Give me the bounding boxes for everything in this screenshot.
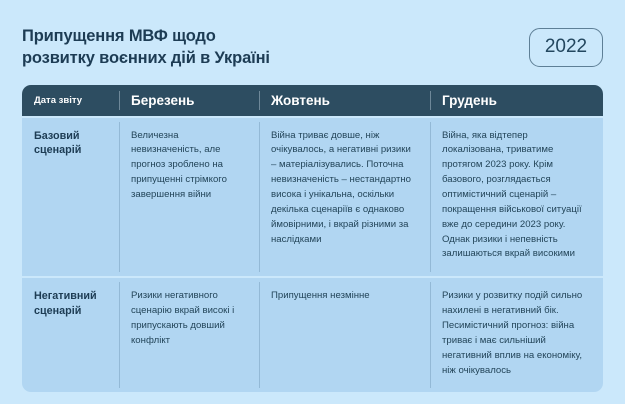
scenario-label: Базовий сценарій [34, 129, 107, 159]
cell-text: Ризики у розвитку подій сильно нахилені … [442, 289, 591, 378]
column-header-date: Дата звіту [22, 85, 119, 116]
row-scenario-negative: Негативний сценарій [22, 278, 119, 392]
header-bar: Припущення МВФ щодо розвитку воєнних дій… [0, 0, 625, 70]
cell-negative-october: Припущення незмінне [259, 278, 430, 392]
cell-text: Припущення незмінне [271, 289, 418, 304]
infographic-root: Припущення МВФ щодо розвитку воєнних дій… [0, 0, 625, 404]
column-header-december-label: Грудень [442, 93, 497, 108]
scenario-label: Негативний сценарій [34, 289, 107, 319]
cell-text: Величезна невизначеність, але прогноз зр… [131, 129, 247, 203]
table-header-row: Дата звіту Березень Жовтень Грудень [22, 85, 603, 116]
year-badge: 2022 [529, 28, 603, 67]
column-header-october-label: Жовтень [271, 93, 330, 108]
column-header-december: Грудень [430, 85, 603, 116]
table-row: Негативний сценарій Ризики негативного с… [22, 278, 603, 392]
comparison-table: Дата звіту Березень Жовтень Грудень Базо… [22, 85, 603, 393]
cell-negative-december: Ризики у розвитку подій сильно нахилені … [430, 278, 603, 392]
column-header-october: Жовтень [259, 85, 430, 116]
cell-text: Війна триває довше, ніж очікувалось, а н… [271, 129, 418, 248]
column-header-march-label: Березень [131, 93, 194, 108]
page-title: Припущення МВФ щодо розвитку воєнних дій… [22, 26, 270, 70]
column-header-date-label: Дата звіту [34, 95, 82, 106]
cell-text: Війна, яка відтепер локалізована, триват… [442, 129, 591, 263]
table-row: Базовий сценарій Величезна невизначеніст… [22, 118, 603, 277]
row-scenario-base: Базовий сценарій [22, 118, 119, 277]
cell-base-march: Величезна невизначеність, але прогноз зр… [119, 118, 259, 277]
column-header-march: Березень [119, 85, 259, 116]
cell-text: Ризики негативного сценарію вкрай високі… [131, 289, 247, 348]
cell-base-october: Війна триває довше, ніж очікувалось, а н… [259, 118, 430, 277]
cell-negative-march: Ризики негативного сценарію вкрай високі… [119, 278, 259, 392]
cell-base-december: Війна, яка відтепер локалізована, триват… [430, 118, 603, 277]
